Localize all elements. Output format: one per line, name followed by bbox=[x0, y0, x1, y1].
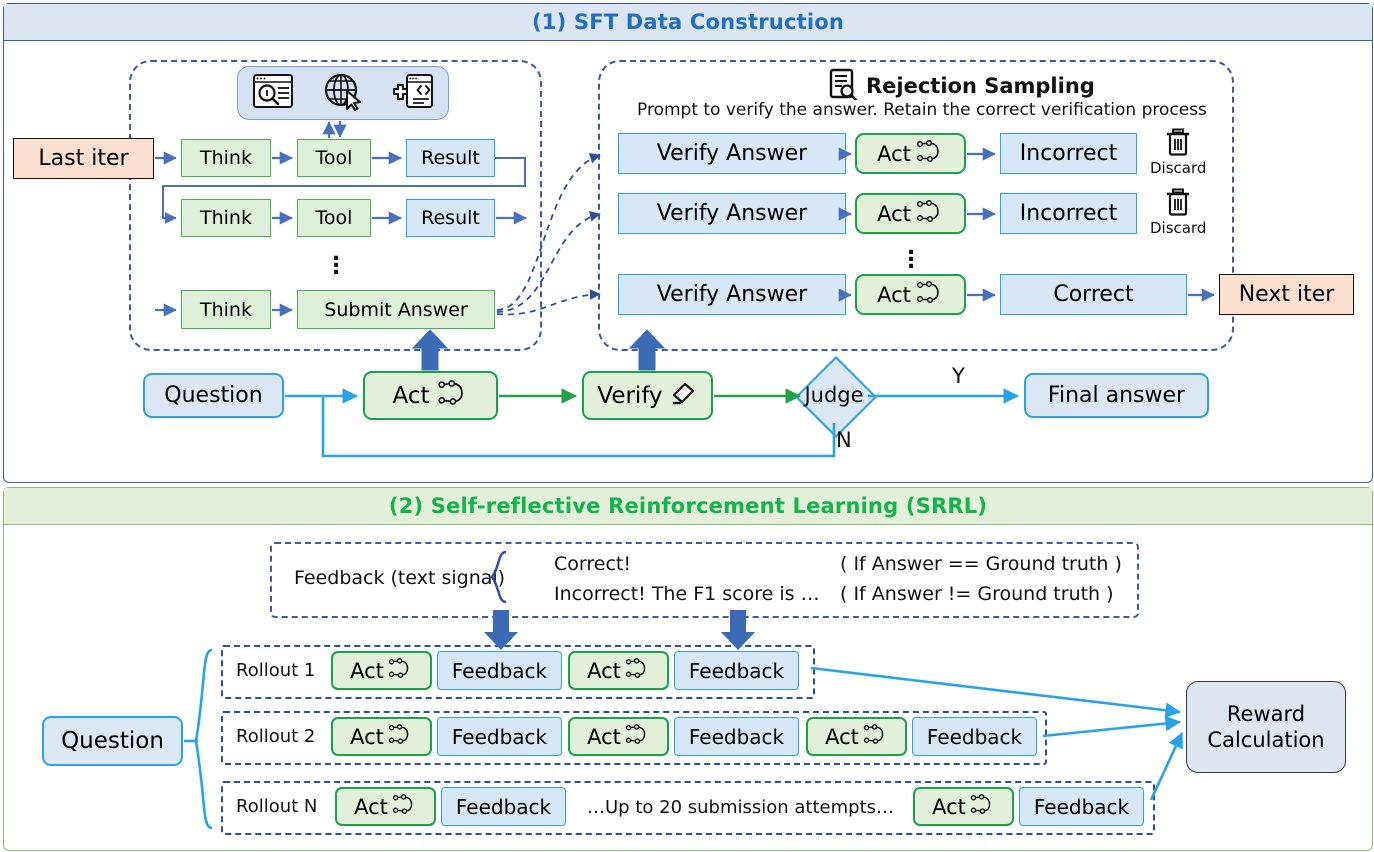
next-iter-label: Next iter bbox=[1239, 282, 1335, 307]
feedback-label-r2-1: Feedback bbox=[452, 725, 547, 749]
feedback-box-rn-1: Feedback bbox=[441, 787, 566, 826]
act-flow-icon bbox=[970, 793, 995, 820]
act-flow-icon bbox=[625, 657, 650, 684]
question-box-srrl: Question bbox=[42, 716, 183, 766]
act-box-rej-1: Act bbox=[855, 133, 966, 174]
sft-panel-title: (1) SFT Data Construction bbox=[4, 4, 1372, 41]
verify-answer-box-3: Verify Answer bbox=[618, 274, 846, 315]
think-label-1: Think bbox=[200, 147, 252, 169]
act-flow-icon bbox=[392, 793, 417, 820]
tool-box-1: Tool bbox=[297, 139, 371, 177]
act-label-r2-2: Act bbox=[587, 725, 621, 749]
feedback-label-r1-1: Feedback bbox=[452, 659, 547, 683]
act-flow-icon bbox=[388, 723, 413, 750]
verify-answer-label-3: Verify Answer bbox=[657, 282, 807, 307]
act-label-r1-1: Act bbox=[350, 659, 384, 683]
feedback-box-r2-2: Feedback bbox=[674, 717, 799, 756]
think-box-3: Think bbox=[181, 290, 271, 329]
question-label-sft: Question bbox=[164, 383, 262, 408]
reward-line-1: Reward bbox=[1227, 701, 1305, 727]
think-label-3: Think bbox=[200, 299, 252, 321]
act-label-rej-3: Act bbox=[877, 283, 911, 307]
judge-yes-label: Y bbox=[952, 364, 965, 388]
vertical-ellipsis-rejection: ... bbox=[905, 244, 917, 265]
rejection-heading-wrap: Rejection Sampling bbox=[828, 68, 1095, 104]
reward-line-2: Calculation bbox=[1207, 727, 1324, 753]
feedback-line-1-condition: ( If Answer == Ground truth ) bbox=[840, 553, 1122, 575]
verify-label-main: Verify bbox=[597, 383, 662, 409]
rollout-n-label: Rollout N bbox=[236, 796, 317, 817]
outcome-box-1: Incorrect bbox=[1000, 133, 1137, 174]
question-box-sft: Question bbox=[143, 373, 284, 418]
act-box-rn-1: Act bbox=[335, 787, 436, 826]
feedback-line-1-text: Correct! bbox=[554, 553, 631, 575]
verify-answer-box-2: Verify Answer bbox=[618, 193, 846, 234]
feedback-label-r2-3: Feedback bbox=[927, 725, 1022, 749]
code-plugin-icon bbox=[391, 72, 435, 114]
result-label-1: Result bbox=[421, 147, 480, 169]
judge-label: Judge bbox=[782, 378, 886, 412]
feedback-label-rn-2: Feedback bbox=[1034, 795, 1129, 819]
submit-answer-label: Submit Answer bbox=[324, 299, 467, 321]
act-flow-icon bbox=[437, 379, 469, 412]
verify-box-main: Verify bbox=[582, 371, 713, 420]
verify-answer-label-1: Verify Answer bbox=[657, 141, 807, 166]
outcome-label-1: Incorrect bbox=[1020, 141, 1117, 166]
globe-cursor-icon bbox=[322, 71, 364, 115]
submission-attempts-note: …Up to 20 submission attempts… bbox=[587, 797, 894, 818]
outcome-label-2: Incorrect bbox=[1020, 201, 1117, 226]
tool-box-2: Tool bbox=[297, 199, 371, 237]
last-iter-box: Last iter bbox=[13, 138, 154, 179]
act-label-r2-1: Act bbox=[350, 725, 384, 749]
submit-answer-box: Submit Answer bbox=[297, 290, 495, 329]
outcome-box-2: Incorrect bbox=[1000, 193, 1137, 234]
trash-icon bbox=[1165, 128, 1191, 160]
doc-magnifier-icon bbox=[828, 68, 858, 104]
final-answer-box: Final answer bbox=[1024, 373, 1209, 418]
act-label-rej-1: Act bbox=[877, 142, 911, 166]
think-label-2: Think bbox=[200, 207, 252, 229]
verify-answer-label-2: Verify Answer bbox=[657, 201, 807, 226]
act-box-r1-2: Act bbox=[568, 651, 669, 690]
tool-strip bbox=[237, 66, 449, 120]
discard-label-2: Discard bbox=[1150, 219, 1206, 237]
act-box-main: Act bbox=[363, 371, 498, 420]
act-label-rn-2: Act bbox=[932, 795, 966, 819]
act-flow-icon bbox=[863, 723, 888, 750]
feedback-box-r2-3: Feedback bbox=[912, 717, 1037, 756]
verify-magnifier-icon bbox=[668, 378, 698, 414]
figure-root: (1) SFT Data Construction bbox=[0, 0, 1374, 852]
act-box-rn-2: Act bbox=[913, 787, 1014, 826]
rollout-2-label: Rollout 2 bbox=[236, 726, 315, 747]
act-flow-icon bbox=[388, 657, 413, 684]
outcome-box-3: Correct bbox=[1000, 274, 1187, 315]
feedback-box-r2-1: Feedback bbox=[437, 717, 562, 756]
document-search-icon bbox=[251, 72, 295, 114]
tool-label-1: Tool bbox=[316, 147, 353, 169]
discard-label-1: Discard bbox=[1150, 159, 1206, 177]
verify-answer-box-1: Verify Answer bbox=[618, 133, 846, 174]
act-box-r2-1: Act bbox=[331, 717, 432, 756]
reward-calculation-box: Reward Calculation bbox=[1186, 681, 1346, 773]
act-label-rn-1: Act bbox=[354, 795, 388, 819]
tool-label-2: Tool bbox=[316, 207, 353, 229]
feedback-label-r1-2: Feedback bbox=[689, 659, 784, 683]
discard-1: Discard bbox=[1150, 128, 1206, 177]
act-flow-icon bbox=[916, 139, 944, 168]
think-box-1: Think bbox=[181, 139, 271, 177]
vertical-ellipsis-sft: ... bbox=[330, 250, 342, 271]
act-label-r2-3: Act bbox=[825, 725, 859, 749]
rollout-1-label: Rollout 1 bbox=[236, 660, 315, 681]
last-iter-label: Last iter bbox=[38, 146, 128, 171]
next-iter-box: Next iter bbox=[1219, 274, 1354, 315]
act-flow-icon bbox=[916, 280, 944, 309]
act-label-rej-2: Act bbox=[877, 202, 911, 226]
act-box-rej-3: Act bbox=[855, 274, 966, 315]
feedback-line-2-condition: ( If Answer != Ground truth ) bbox=[840, 583, 1114, 605]
feedback-box-r1-2: Feedback bbox=[674, 651, 799, 690]
result-box-1: Result bbox=[406, 139, 495, 177]
feedback-box-rn-2: Feedback bbox=[1019, 787, 1144, 826]
feedback-box-r1-1: Feedback bbox=[437, 651, 562, 690]
feedback-signal-label: Feedback (text signal) bbox=[294, 567, 505, 589]
act-label-r1-2: Act bbox=[587, 659, 621, 683]
srrl-panel-title: (2) Self-reflective Reinforcement Learni… bbox=[4, 488, 1372, 525]
act-box-r2-2: Act bbox=[568, 717, 669, 756]
act-box-r1-1: Act bbox=[331, 651, 432, 690]
act-box-rej-2: Act bbox=[855, 193, 966, 234]
feedback-label-r2-2: Feedback bbox=[689, 725, 784, 749]
rejection-sampling-heading: Rejection Sampling bbox=[866, 74, 1095, 98]
question-label-srrl: Question bbox=[61, 728, 164, 754]
outcome-label-3: Correct bbox=[1053, 282, 1133, 307]
rejection-subtitle: Prompt to verify the answer. Retain the … bbox=[637, 100, 1207, 120]
act-flow-icon bbox=[916, 199, 944, 228]
act-flow-icon bbox=[625, 723, 650, 750]
judge-no-label: N bbox=[836, 428, 852, 452]
think-box-2: Think bbox=[181, 199, 271, 237]
feedback-line-2-text: Incorrect! The F1 score is … bbox=[554, 583, 820, 605]
final-answer-label: Final answer bbox=[1048, 383, 1185, 408]
result-label-2: Result bbox=[421, 207, 480, 229]
act-box-r2-3: Act bbox=[806, 717, 907, 756]
result-box-2: Result bbox=[406, 199, 495, 237]
trash-icon bbox=[1165, 188, 1191, 220]
discard-2: Discard bbox=[1150, 188, 1206, 237]
act-label-main: Act bbox=[393, 383, 430, 409]
feedback-label-rn-1: Feedback bbox=[456, 795, 551, 819]
